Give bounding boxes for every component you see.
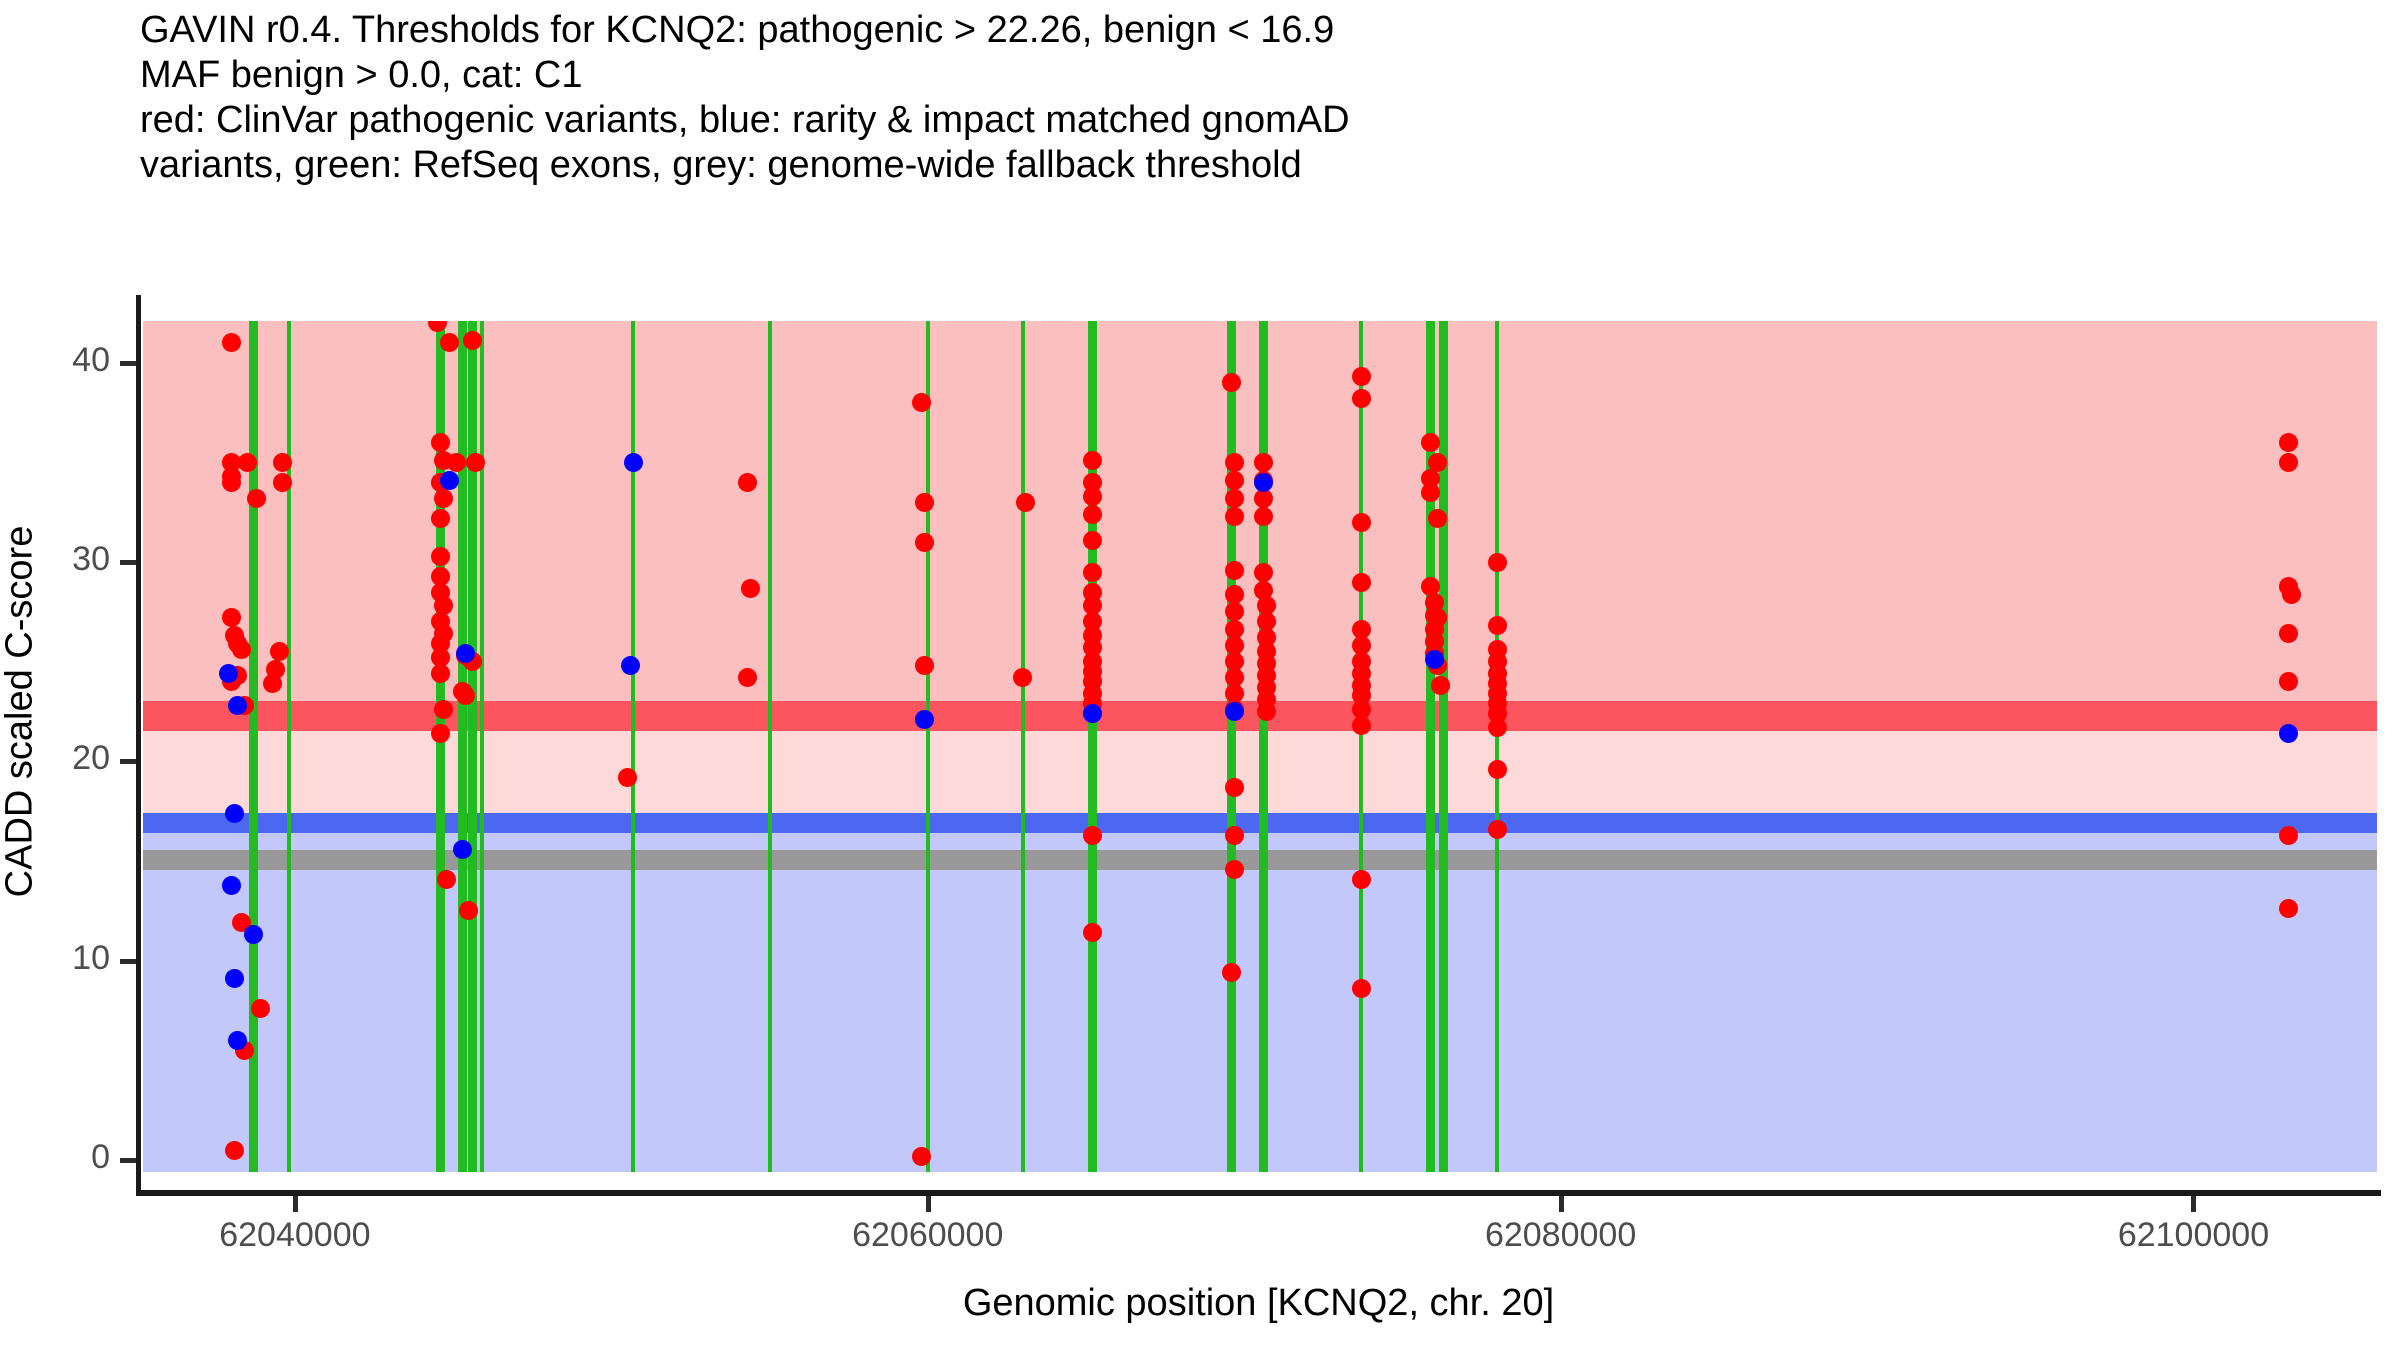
title-line-4: variants, green: RefSeq exons, grey: gen…: [140, 143, 2360, 188]
clinvar-pathogenic-point: [1083, 487, 1102, 506]
x-tick: [2191, 1196, 2196, 1212]
gnomad-variant-point: [453, 840, 472, 859]
clinvar-pathogenic-point: [431, 509, 450, 528]
clinvar-pathogenic-point: [434, 489, 453, 508]
clinvar-pathogenic-point: [1225, 778, 1244, 797]
exon-line: [768, 321, 772, 1172]
gnomad-variant-point: [624, 453, 643, 472]
clinvar-pathogenic-point: [1083, 826, 1102, 845]
clinvar-pathogenic-point: [2279, 433, 2298, 452]
chart-title-block: GAVIN r0.4. Thresholds for KCNQ2: pathog…: [140, 8, 2360, 188]
clinvar-pathogenic-point: [1428, 453, 1447, 472]
clinvar-pathogenic-point: [232, 640, 251, 659]
x-tick-label: 62040000: [165, 1216, 425, 1255]
x-tick: [926, 1196, 931, 1212]
clinvar-pathogenic-point: [1225, 561, 1244, 580]
clinvar-pathogenic-point: [1352, 389, 1371, 408]
x-tick-label: 62100000: [2063, 1216, 2323, 1255]
clinvar-pathogenic-point: [1352, 716, 1371, 735]
clinvar-pathogenic-point: [225, 1141, 244, 1160]
title-line-1: GAVIN r0.4. Thresholds for KCNQ2: pathog…: [140, 8, 2360, 53]
clinvar-pathogenic-point: [222, 473, 241, 492]
gnomad-variant-point: [1425, 650, 1444, 669]
y-tick: [120, 560, 136, 565]
gnomad-variant-point: [2279, 724, 2298, 743]
clinvar-pathogenic-point: [915, 533, 934, 552]
clinvar-pathogenic-point: [738, 473, 757, 492]
clinvar-pathogenic-point: [1254, 453, 1273, 472]
clinvar-pathogenic-point: [1257, 702, 1276, 721]
clinvar-pathogenic-point: [270, 642, 289, 661]
exon-line: [468, 321, 477, 1172]
gnomad-variant-point: [222, 876, 241, 895]
gnomad-variant-point: [1083, 704, 1102, 723]
x-axis-title: Genomic position [KCNQ2, chr. 20]: [136, 1282, 2381, 1325]
clinvar-pathogenic-point: [1083, 531, 1102, 550]
chart-root: GAVIN r0.4. Thresholds for KCNQ2: pathog…: [0, 0, 2400, 1350]
clinvar-pathogenic-point: [273, 473, 292, 492]
clinvar-pathogenic-point: [251, 999, 270, 1018]
clinvar-pathogenic-point: [2279, 672, 2298, 691]
exon-line: [1359, 321, 1363, 1172]
gnomad-variant-point: [1254, 473, 1273, 492]
exon-line: [1021, 321, 1025, 1172]
clinvar-pathogenic-point: [2279, 453, 2298, 472]
clinvar-pathogenic-point: [431, 724, 450, 743]
x-tick: [293, 1196, 298, 1212]
clinvar-pathogenic-point: [2279, 826, 2298, 845]
clinvar-pathogenic-point: [1254, 507, 1273, 526]
exon-line: [926, 321, 930, 1172]
clinvar-pathogenic-point: [912, 1147, 931, 1166]
clinvar-pathogenic-point: [1225, 489, 1244, 508]
exon-line: [1439, 321, 1448, 1172]
clinvar-pathogenic-point: [1083, 451, 1102, 470]
title-line-2: MAF benign > 0.0, cat: C1: [140, 53, 2360, 98]
clinvar-pathogenic-point: [1352, 367, 1371, 386]
exon-line: [1259, 321, 1268, 1172]
exon-line: [287, 321, 291, 1172]
clinvar-pathogenic-point: [1225, 826, 1244, 845]
clinvar-pathogenic-point: [1352, 513, 1371, 532]
clinvar-pathogenic-point: [1431, 676, 1450, 695]
clinvar-pathogenic-point: [1225, 471, 1244, 490]
clinvar-pathogenic-point: [1352, 573, 1371, 592]
title-line-3: red: ClinVar pathogenic variants, blue: …: [140, 98, 2360, 143]
clinvar-pathogenic-point: [741, 579, 760, 598]
exon-line: [480, 321, 484, 1172]
clinvar-pathogenic-point: [447, 453, 466, 472]
clinvar-pathogenic-point: [238, 453, 257, 472]
clinvar-pathogenic-point: [1428, 509, 1447, 528]
clinvar-pathogenic-point: [1083, 563, 1102, 582]
clinvar-pathogenic-point: [1488, 718, 1507, 737]
clinvar-pathogenic-point: [431, 433, 450, 452]
clinvar-pathogenic-point: [1488, 820, 1507, 839]
clinvar-pathogenic-point: [1254, 563, 1273, 582]
clinvar-pathogenic-point: [1352, 979, 1371, 998]
clinvar-pathogenic-point: [738, 668, 757, 687]
clinvar-pathogenic-point: [1225, 860, 1244, 879]
clinvar-pathogenic-point: [1083, 505, 1102, 524]
exon-line: [1088, 321, 1097, 1172]
exon-line: [1495, 321, 1499, 1172]
y-axis-line: [136, 295, 141, 1195]
y-tick: [120, 959, 136, 964]
clinvar-pathogenic-point: [431, 547, 450, 566]
y-tick: [120, 1158, 136, 1163]
y-tick: [120, 361, 136, 366]
x-axis-line: [136, 1190, 2381, 1196]
y-axis-title: CADD scaled C-score: [0, 362, 42, 1062]
clinvar-pathogenic-point: [1225, 585, 1244, 604]
gnomad-variant-point: [621, 656, 640, 675]
x-tick-label: 62060000: [798, 1216, 1058, 1255]
y-tick: [120, 759, 136, 764]
x-tick-label: 62080000: [1431, 1216, 1691, 1255]
clinvar-pathogenic-point: [1083, 923, 1102, 942]
exon-line: [1227, 321, 1236, 1172]
clinvar-pathogenic-point: [1488, 553, 1507, 572]
gnomad-variant-point: [225, 804, 244, 823]
clinvar-pathogenic-point: [463, 331, 482, 350]
plot-panel: [143, 321, 2377, 1172]
clinvar-pathogenic-point: [1225, 507, 1244, 526]
clinvar-pathogenic-point: [1488, 760, 1507, 779]
clinvar-pathogenic-point: [466, 453, 485, 472]
clinvar-pathogenic-point: [2282, 585, 2301, 604]
exon-line: [458, 321, 467, 1172]
y-tick-label: 0: [10, 1138, 110, 1177]
x-tick: [1559, 1196, 1564, 1212]
clinvar-pathogenic-point: [273, 453, 292, 472]
clinvar-pathogenic-point: [1352, 870, 1371, 889]
exon-line: [631, 321, 635, 1172]
clinvar-pathogenic-point: [437, 870, 456, 889]
clinvar-pathogenic-point: [915, 493, 934, 512]
clinvar-pathogenic-point: [912, 393, 931, 412]
clinvar-pathogenic-point: [618, 768, 637, 787]
